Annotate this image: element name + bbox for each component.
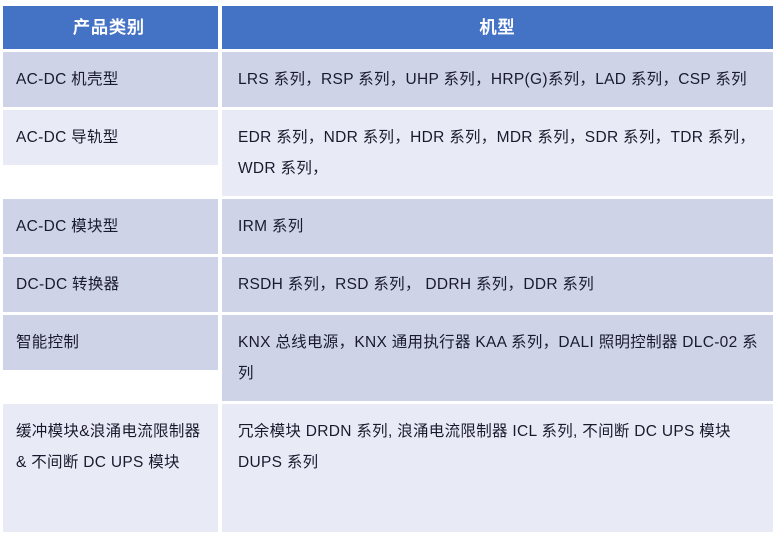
row-model-cell: IRM 系列 [222, 199, 773, 254]
product-category-model-table: 产品类别 机型 AC-DC 机壳型 [0, 0, 773, 532]
category-text: 缓冲模块&浪涌电流限制器 & 不间断 DC UPS 模块 [0, 404, 218, 532]
header-label-model: 机型 [222, 6, 773, 49]
table-row: 智能控制 KNX 总线电源，KNX 通用执行器 KAA 系列，DALI 照明控制… [0, 315, 773, 401]
table-header: 产品类别 机型 [0, 0, 773, 49]
row-model-cell: KNX 总线电源，KNX 通用执行器 KAA 系列，DALI 照明控制器 DLC… [222, 315, 773, 401]
model-text: RSDH 系列，RSD 系列， DDRH 系列，DDR 系列 [222, 257, 773, 312]
table-row: AC-DC 机壳型 LRS 系列，RSP 系列，UHP 系列，HRP(G)系列，… [0, 52, 773, 107]
model-text: LRS 系列，RSP 系列，UHP 系列，HRP(G)系列，LAD 系列，CSP… [222, 52, 773, 107]
row-category-cell: 缓冲模块&浪涌电流限制器 & 不间断 DC UPS 模块 [0, 404, 218, 532]
row-model-cell: RSDH 系列，RSD 系列， DDRH 系列，DDR 系列 [222, 257, 773, 312]
product-table-container: 产品类别 机型 AC-DC 机壳型 [0, 0, 773, 546]
row-category-cell: 智能控制 [0, 315, 218, 401]
table-row: DC-DC 转换器 RSDH 系列，RSD 系列， DDRH 系列，DDR 系列 [0, 257, 773, 312]
table-row: 缓冲模块&浪涌电流限制器 & 不间断 DC UPS 模块 冗余模块 DRDN 系… [0, 404, 773, 532]
row-category-cell: AC-DC 机壳型 [0, 52, 218, 107]
table-body: AC-DC 机壳型 LRS 系列，RSP 系列，UHP 系列，HRP(G)系列，… [0, 49, 773, 532]
row-category-cell: DC-DC 转换器 [0, 257, 218, 312]
model-text: EDR 系列，NDR 系列，HDR 系列，MDR 系列，SDR 系列，TDR 系… [222, 110, 773, 196]
row-model-cell: LRS 系列，RSP 系列，UHP 系列，HRP(G)系列，LAD 系列，CSP… [222, 52, 773, 107]
header-cell-model: 机型 [222, 6, 773, 49]
row-category-cell: AC-DC 导轨型 [0, 110, 218, 196]
category-text: AC-DC 模块型 [0, 199, 218, 254]
category-text: AC-DC 机壳型 [0, 52, 218, 107]
header-cell-category: 产品类别 [0, 6, 218, 49]
model-text: IRM 系列 [222, 199, 773, 254]
row-category-cell: AC-DC 模块型 [0, 199, 218, 254]
model-text: 冗余模块 DRDN 系列, 浪涌电流限制器 ICL 系列, 不间断 DC UPS… [222, 404, 773, 532]
header-row: 产品类别 机型 [0, 6, 773, 49]
table-row: AC-DC 模块型 IRM 系列 [0, 199, 773, 254]
category-text: DC-DC 转换器 [0, 257, 218, 312]
model-text: KNX 总线电源，KNX 通用执行器 KAA 系列，DALI 照明控制器 DLC… [222, 315, 773, 401]
header-label-category: 产品类别 [0, 6, 218, 49]
row-model-cell: 冗余模块 DRDN 系列, 浪涌电流限制器 ICL 系列, 不间断 DC UPS… [222, 404, 773, 532]
category-text: AC-DC 导轨型 [0, 110, 218, 165]
row-model-cell: EDR 系列，NDR 系列，HDR 系列，MDR 系列，SDR 系列，TDR 系… [222, 110, 773, 196]
category-text: 智能控制 [0, 315, 218, 370]
table-row: AC-DC 导轨型 EDR 系列，NDR 系列，HDR 系列，MDR 系列，SD… [0, 110, 773, 196]
